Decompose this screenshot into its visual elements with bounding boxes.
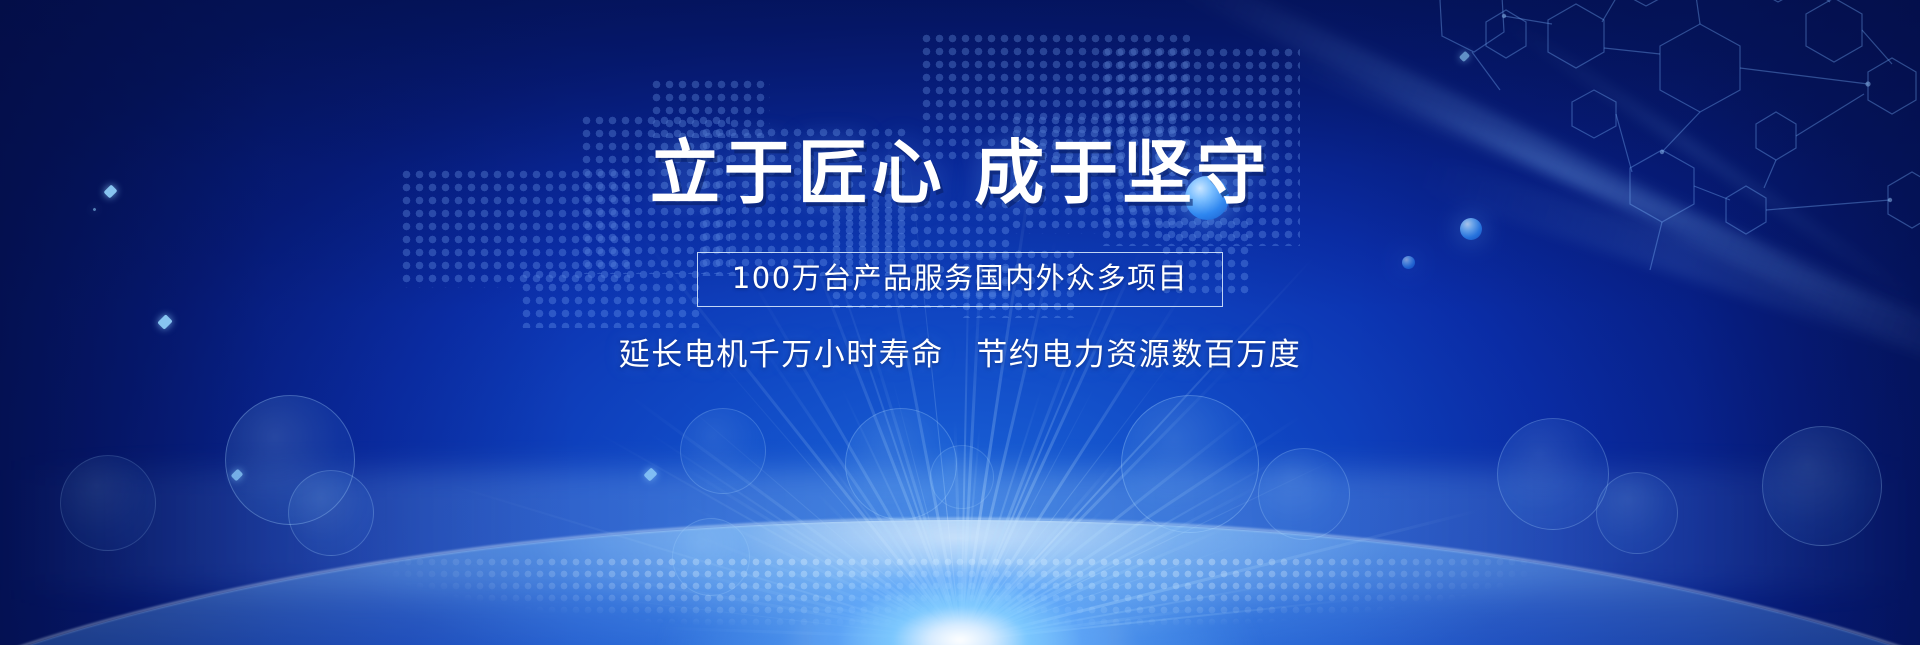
banner-content: 立于匠心 成于坚守 100万台产品服务国内外众多项目 延长电机千万小时寿命 节约… (0, 0, 1920, 645)
subtitle-text: 100万台产品服务国内外众多项目 (732, 264, 1188, 293)
subtitle-box: 100万台产品服务国内外众多项目 (697, 252, 1223, 307)
page-title: 立于匠心 成于坚守 (650, 138, 1270, 208)
tagline-text: 延长电机千万小时寿命 节约电力资源数百万度 (619, 340, 1302, 371)
hero-banner: 立于匠心 成于坚守 100万台产品服务国内外众多项目 延长电机千万小时寿命 节约… (0, 0, 1920, 645)
